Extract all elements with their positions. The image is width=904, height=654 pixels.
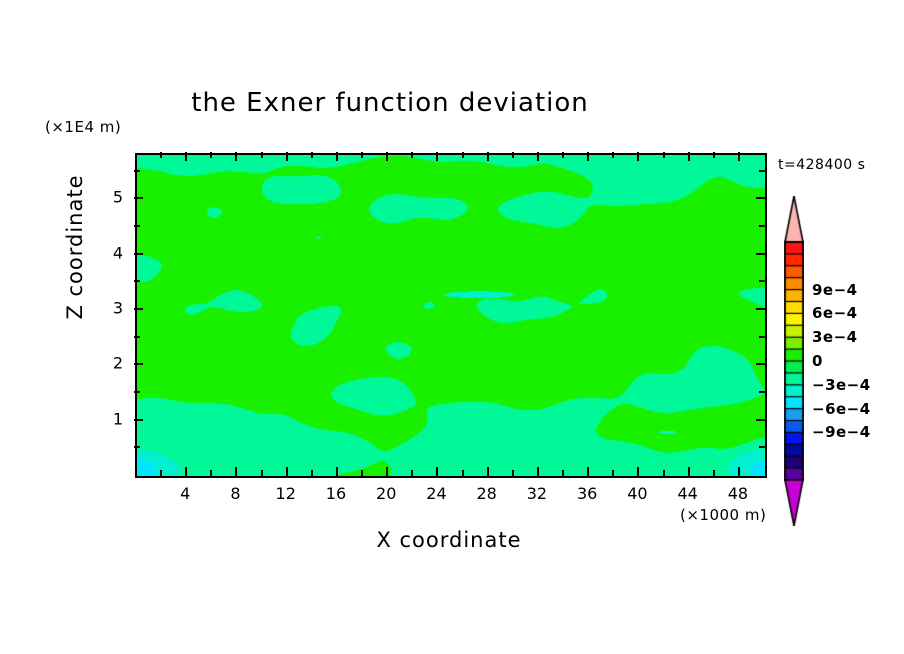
x-tick bbox=[612, 152, 614, 158]
x-tick-label: 32 bbox=[527, 484, 547, 503]
y-tick bbox=[756, 308, 765, 310]
x-tick-label: 28 bbox=[476, 484, 496, 503]
x-tick bbox=[537, 467, 539, 476]
y-tick bbox=[759, 446, 765, 448]
y-tick bbox=[134, 170, 140, 172]
y-tick bbox=[134, 363, 143, 365]
colorbar-tick-label: −9e−4 bbox=[812, 423, 871, 441]
x-tick bbox=[235, 152, 237, 161]
x-tick bbox=[261, 152, 263, 158]
colorbar-tick-label: 0 bbox=[812, 352, 823, 370]
x-tick-label: 4 bbox=[180, 484, 190, 503]
x-tick bbox=[160, 470, 162, 476]
x-tick bbox=[713, 470, 715, 476]
colorbar-tick-label: −6e−4 bbox=[812, 400, 871, 418]
timestamp-label: t=428400 s bbox=[778, 157, 865, 173]
y-tick bbox=[756, 253, 765, 255]
y-tick-label: 2 bbox=[99, 354, 123, 373]
y-tick bbox=[759, 170, 765, 172]
y-tick-label: 4 bbox=[99, 243, 123, 262]
y-tick bbox=[134, 336, 140, 338]
y-tick bbox=[134, 253, 143, 255]
x-tick bbox=[462, 470, 464, 476]
y-tick bbox=[134, 391, 140, 393]
x-tick-label: 36 bbox=[577, 484, 597, 503]
x-tick-label: 48 bbox=[728, 484, 748, 503]
y-tick bbox=[759, 391, 765, 393]
colorbar-tick-label: 3e−4 bbox=[812, 328, 858, 346]
x-tick bbox=[261, 470, 263, 476]
y-tick bbox=[134, 446, 140, 448]
x-tick bbox=[185, 152, 187, 161]
x-tick bbox=[160, 152, 162, 158]
x-tick-label: 16 bbox=[326, 484, 346, 503]
x-tick bbox=[286, 467, 288, 476]
colorbar bbox=[784, 196, 804, 526]
x-tick bbox=[537, 152, 539, 161]
x-tick bbox=[336, 152, 338, 161]
x-tick bbox=[738, 152, 740, 161]
x-tick bbox=[688, 152, 690, 161]
x-tick bbox=[512, 152, 514, 158]
x-tick bbox=[210, 152, 212, 158]
x-tick-label: 44 bbox=[677, 484, 697, 503]
x-tick bbox=[311, 470, 313, 476]
y-tick bbox=[134, 419, 143, 421]
colorbar-tick-label: 9e−4 bbox=[812, 281, 858, 299]
x-tick bbox=[386, 152, 388, 161]
x-tick bbox=[663, 470, 665, 476]
plot-area bbox=[135, 153, 767, 478]
y-tick-label: 1 bbox=[99, 409, 123, 428]
y-tick bbox=[756, 197, 765, 199]
x-tick bbox=[562, 152, 564, 158]
x-tick bbox=[286, 152, 288, 161]
x-tick bbox=[436, 152, 438, 161]
x-tick bbox=[235, 467, 237, 476]
x-tick bbox=[637, 152, 639, 161]
colorbar-tick-label: −3e−4 bbox=[812, 376, 871, 394]
x-tick bbox=[361, 470, 363, 476]
x-tick bbox=[411, 470, 413, 476]
x-axis-unit-label: (×1000 m) bbox=[680, 506, 766, 524]
x-tick bbox=[185, 467, 187, 476]
contour-field bbox=[137, 155, 765, 476]
colorbar-tick-label: 6e−4 bbox=[812, 304, 858, 322]
x-tick-label: 8 bbox=[230, 484, 240, 503]
x-tick bbox=[562, 470, 564, 476]
x-tick bbox=[688, 467, 690, 476]
x-tick bbox=[512, 470, 514, 476]
x-tick bbox=[386, 467, 388, 476]
x-tick bbox=[361, 152, 363, 158]
colorbar-gradient bbox=[784, 196, 804, 526]
x-tick bbox=[587, 152, 589, 161]
y-tick bbox=[134, 308, 143, 310]
y-tick bbox=[759, 225, 765, 227]
y-tick-label: 3 bbox=[99, 298, 123, 317]
figure-root: the Exner function deviation (×1E4 m) t=… bbox=[0, 0, 904, 654]
x-tick bbox=[311, 152, 313, 158]
x-tick-label: 20 bbox=[376, 484, 396, 503]
x-tick bbox=[462, 152, 464, 158]
x-tick bbox=[587, 467, 589, 476]
x-tick-label: 12 bbox=[276, 484, 296, 503]
y-tick bbox=[134, 280, 140, 282]
y-tick bbox=[134, 197, 143, 199]
x-tick bbox=[436, 467, 438, 476]
y-tick bbox=[759, 280, 765, 282]
y-tick-label: 5 bbox=[99, 188, 123, 207]
x-tick bbox=[487, 467, 489, 476]
x-tick bbox=[487, 152, 489, 161]
y-axis-title: Z coordinate bbox=[63, 147, 87, 347]
y-tick bbox=[759, 336, 765, 338]
x-tick bbox=[210, 470, 212, 476]
y-tick bbox=[756, 419, 765, 421]
x-tick bbox=[612, 470, 614, 476]
x-tick bbox=[637, 467, 639, 476]
page-title: the Exner function deviation bbox=[0, 88, 780, 118]
y-tick bbox=[756, 363, 765, 365]
x-tick bbox=[663, 152, 665, 158]
x-tick bbox=[738, 467, 740, 476]
x-tick-label: 24 bbox=[426, 484, 446, 503]
x-tick-label: 40 bbox=[627, 484, 647, 503]
y-axis-unit-label: (×1E4 m) bbox=[45, 118, 121, 136]
x-tick bbox=[411, 152, 413, 158]
x-axis-title: X coordinate bbox=[135, 528, 763, 552]
y-tick bbox=[134, 225, 140, 227]
x-tick bbox=[713, 152, 715, 158]
x-tick bbox=[336, 467, 338, 476]
